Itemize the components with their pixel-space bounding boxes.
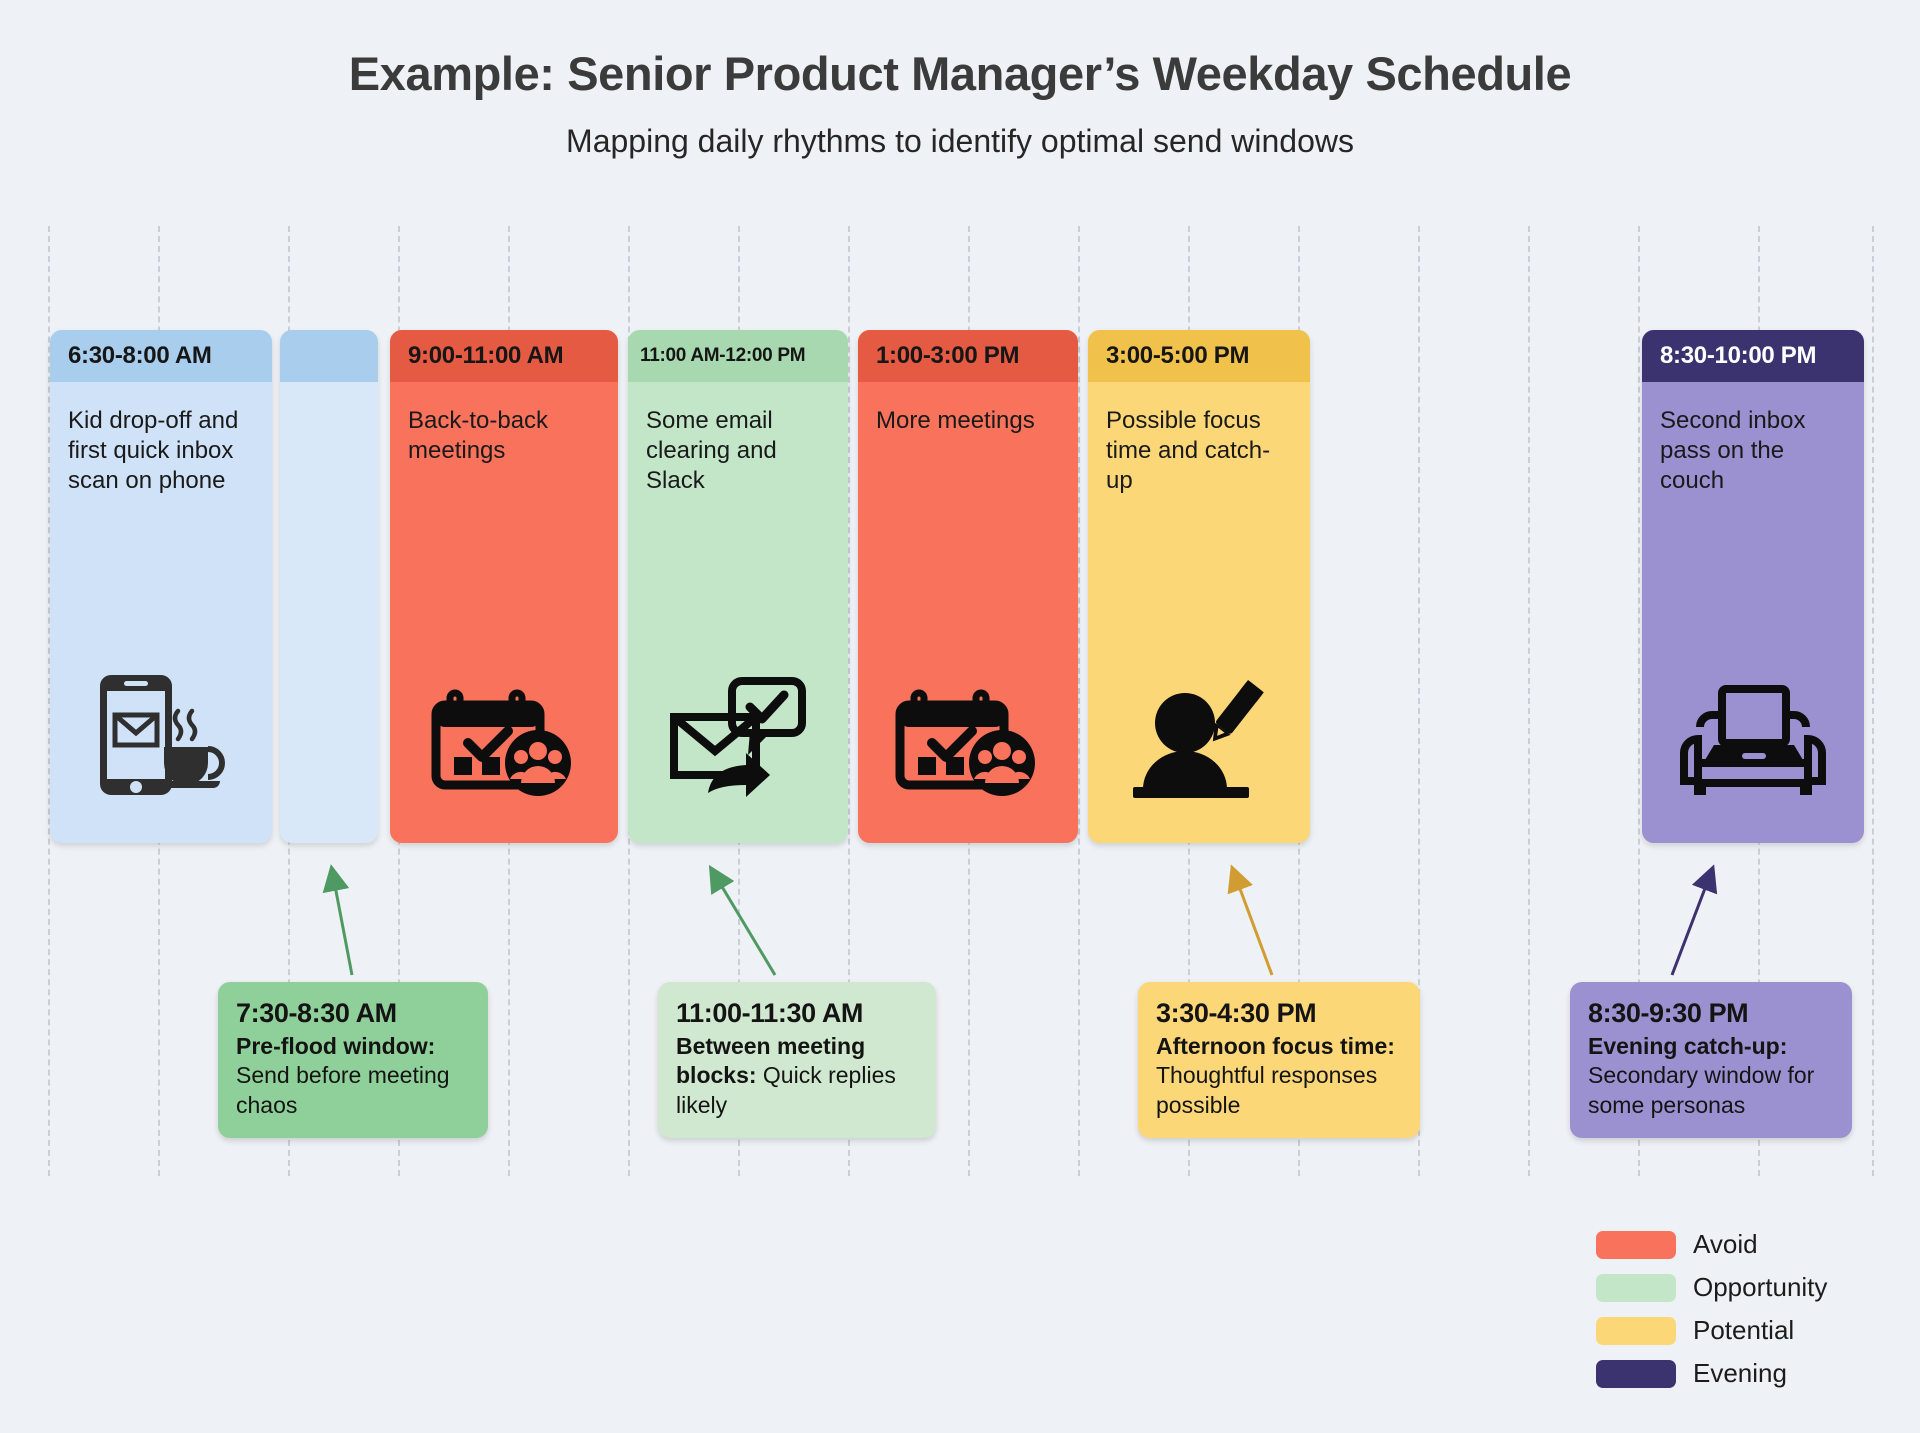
callout-rest: Thoughtful responses possible bbox=[1156, 1062, 1377, 1117]
page-title: Example: Senior Product Manager’s Weekda… bbox=[0, 46, 1920, 101]
timeline-block-time: 6:30-8:00 AM bbox=[50, 330, 272, 382]
timeline-block-text: Second inbox pass on the couch bbox=[1642, 382, 1864, 497]
legend-item-opportunity[interactable]: Opportunity bbox=[1596, 1266, 1864, 1309]
callout-text: Between meeting blocks: Quick replies li… bbox=[676, 1032, 918, 1120]
timeline-block-morning[interactable]: 6:30-8:00 AM Kid drop-off and first quic… bbox=[50, 330, 272, 843]
callout-text: Evening catch-up: Secondary window for s… bbox=[1588, 1032, 1834, 1120]
legend-swatch bbox=[1596, 1317, 1676, 1345]
callout-text: Pre-flood window: Send before meeting ch… bbox=[236, 1032, 470, 1120]
callout-rest: Secondary window for some personas bbox=[1588, 1062, 1814, 1117]
legend-label: Evening bbox=[1693, 1358, 1787, 1389]
page-subtitle: Mapping daily rhythms to identify optima… bbox=[0, 123, 1920, 160]
legend-label: Avoid bbox=[1693, 1229, 1758, 1260]
legend-label: Potential bbox=[1693, 1315, 1794, 1346]
callout-time: 8:30-9:30 PM bbox=[1588, 998, 1834, 1029]
timeline-block-text: Kid drop-off and first quick inbox scan … bbox=[50, 382, 272, 497]
timeline-block-text: More meetings bbox=[858, 382, 1078, 436]
timeline-block-time: 11:00 AM-12:00 PM bbox=[628, 330, 848, 382]
callout-time: 7:30-8:30 AM bbox=[236, 998, 470, 1029]
email-reply-chat-icon bbox=[628, 675, 848, 801]
timeline-block-evening[interactable]: 8:30-10:00 PM Second inbox pass on the c… bbox=[1642, 330, 1864, 843]
chart-header: Example: Senior Product Manager’s Weekda… bbox=[0, 0, 1920, 160]
timeline-block-time: 3:00-5:00 PM bbox=[1088, 330, 1310, 382]
legend-item-evening[interactable]: Evening bbox=[1596, 1352, 1864, 1395]
legend-swatch bbox=[1596, 1360, 1676, 1388]
timeline-block-time bbox=[280, 330, 378, 382]
timeline-block-gap[interactable] bbox=[280, 330, 378, 843]
gridline bbox=[1528, 226, 1530, 1176]
timeline-block-morning-meetings[interactable]: 9:00-11:00 AM Back-to-back meetings bbox=[390, 330, 618, 843]
timeline-block-focus-time[interactable]: 3:00-5:00 PM Possible focus time and cat… bbox=[1088, 330, 1310, 843]
timeline-block-text bbox=[280, 382, 378, 406]
callout-lead: Pre-flood window: bbox=[236, 1033, 435, 1059]
callout-lead: Afternoon focus time: bbox=[1156, 1033, 1395, 1059]
timeline-block-time: 9:00-11:00 AM bbox=[390, 330, 618, 382]
legend: Avoid Opportunity Potential Evening bbox=[1596, 1223, 1864, 1395]
timeline-block-time: 1:00-3:00 PM bbox=[858, 330, 1078, 382]
callout-afternoon-focus[interactable]: 3:30-4:30 PM Afternoon focus time: Thoug… bbox=[1138, 982, 1420, 1138]
laptop-couch-icon bbox=[1642, 683, 1864, 801]
callout-pre-flood[interactable]: 7:30-8:30 AM Pre-flood window: Send befo… bbox=[218, 982, 488, 1138]
calendar-meeting-icon bbox=[858, 679, 1078, 801]
legend-item-avoid[interactable]: Avoid bbox=[1596, 1223, 1864, 1266]
phone-email-coffee-icon bbox=[50, 671, 272, 801]
gridline bbox=[1078, 226, 1080, 1176]
legend-swatch bbox=[1596, 1231, 1676, 1259]
calendar-meeting-icon bbox=[390, 679, 618, 801]
legend-swatch bbox=[1596, 1274, 1676, 1302]
callout-between-meetings[interactable]: 11:00-11:30 AM Between meeting blocks: Q… bbox=[658, 982, 936, 1138]
timeline-block-email-clearing[interactable]: 11:00 AM-12:00 PM Some email clearing an… bbox=[628, 330, 848, 843]
person-writing-icon bbox=[1088, 677, 1310, 801]
callout-evening-catchup[interactable]: 8:30-9:30 PM Evening catch-up: Secondary… bbox=[1570, 982, 1852, 1138]
timeline-block-text: Possible focus time and catch-up bbox=[1088, 382, 1310, 497]
legend-item-potential[interactable]: Potential bbox=[1596, 1309, 1864, 1352]
timeline-block-afternoon-meetings[interactable]: 1:00-3:00 PM More meetings bbox=[858, 330, 1078, 843]
callout-lead: Evening catch-up: bbox=[1588, 1033, 1787, 1059]
callout-rest: Send before meeting chaos bbox=[236, 1062, 450, 1117]
timeline-block-text: Back-to-back meetings bbox=[390, 382, 618, 466]
timeline-block-text: Some email clearing and Slack bbox=[628, 382, 848, 497]
callout-time: 3:30-4:30 PM bbox=[1156, 998, 1402, 1029]
timeline-block-time: 8:30-10:00 PM bbox=[1642, 330, 1864, 382]
callout-text: Afternoon focus time: Thoughtful respons… bbox=[1156, 1032, 1402, 1120]
gridline bbox=[1872, 226, 1874, 1176]
legend-label: Opportunity bbox=[1693, 1272, 1827, 1303]
callout-time: 11:00-11:30 AM bbox=[676, 998, 918, 1029]
